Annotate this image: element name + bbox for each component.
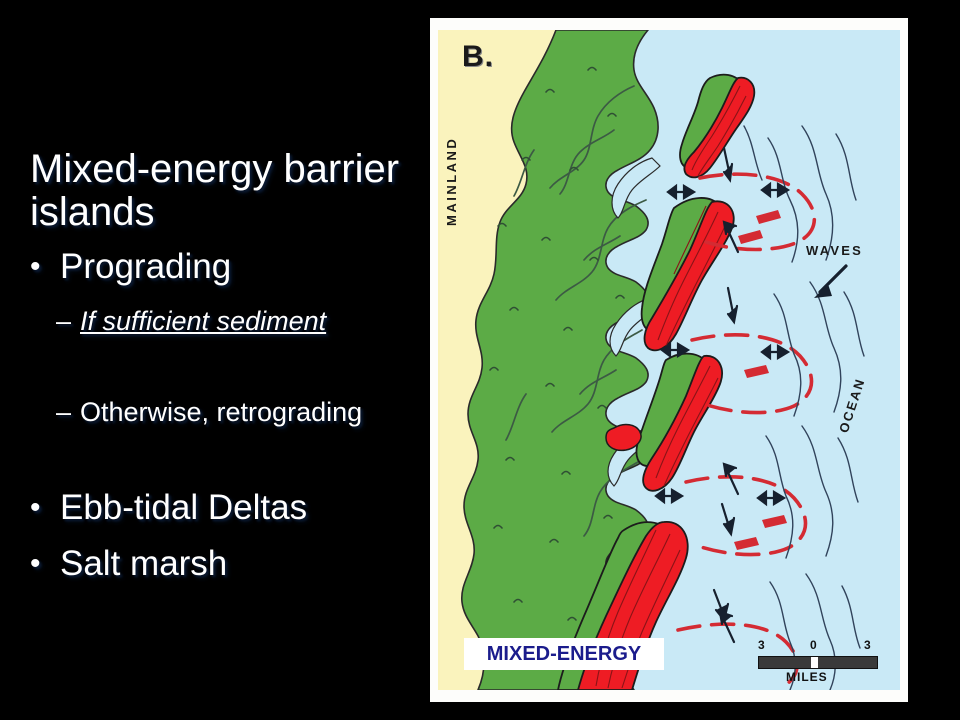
bullet-label: Prograding [60,246,420,288]
bullet-label: If sufficient sediment [80,305,386,338]
scale-number-left: 3 [758,638,765,652]
bullet-item-otherwise-retrograding: – Otherwise, retrograding [56,396,386,429]
bullet-marker: • [30,543,60,585]
scale-seg-2 [811,657,818,668]
figure-caption-box: MIXED-ENERGY [464,638,664,670]
bullet-marker: • [30,246,60,288]
coastal-map-figure: B. MAINLAND OCEAN WAVES MIXED-ENERGY 3 0… [438,30,900,690]
figure-caption-text: MIXED-ENERGY [487,643,641,666]
red-shoal [606,425,641,451]
bullet-item-if-sufficient-sediment: – If sufficient sediment [56,305,386,338]
panel-letter: B. [462,40,494,74]
bullet-label: Otherwise, retrograding [80,396,386,429]
dash-marker: – [56,396,80,429]
scale-bar-graphic [758,656,878,669]
bullet-item-salt-marsh: • Salt marsh [30,543,420,585]
scale-bar-units: MILES [786,670,828,684]
waves-direction-arrow-icon [806,262,850,302]
bullet-item-prograding: • Prograding [30,246,420,288]
bullet-label: Salt marsh [60,543,420,585]
scale-number-middle: 0 [810,638,817,652]
map-label-mainland: MAINLAND [444,137,459,226]
slide-root: Mixed-energy barrier islands • Progradin… [0,0,960,720]
barrier-island-map-svg [438,30,900,690]
scale-seg-3 [818,657,877,668]
bullet-label: Ebb-tidal Deltas [60,487,420,529]
map-label-waves: WAVES [806,243,863,258]
scale-seg-1 [759,657,811,668]
bullet-item-ebb-tidal-deltas: • Ebb-tidal Deltas [30,487,420,529]
slide-text-column: Mixed-energy barrier islands • Progradin… [0,0,420,720]
map-scale-bar: 3 0 3 MILES [758,638,878,686]
bullet-marker: • [30,487,60,529]
scale-bar-numbers: 3 0 3 [758,638,878,654]
figure-frame: B. MAINLAND OCEAN WAVES MIXED-ENERGY 3 0… [430,18,908,702]
dash-marker: – [56,305,80,338]
scale-number-right: 3 [864,638,871,652]
page-title: Mixed-energy barrier islands [30,148,410,234]
